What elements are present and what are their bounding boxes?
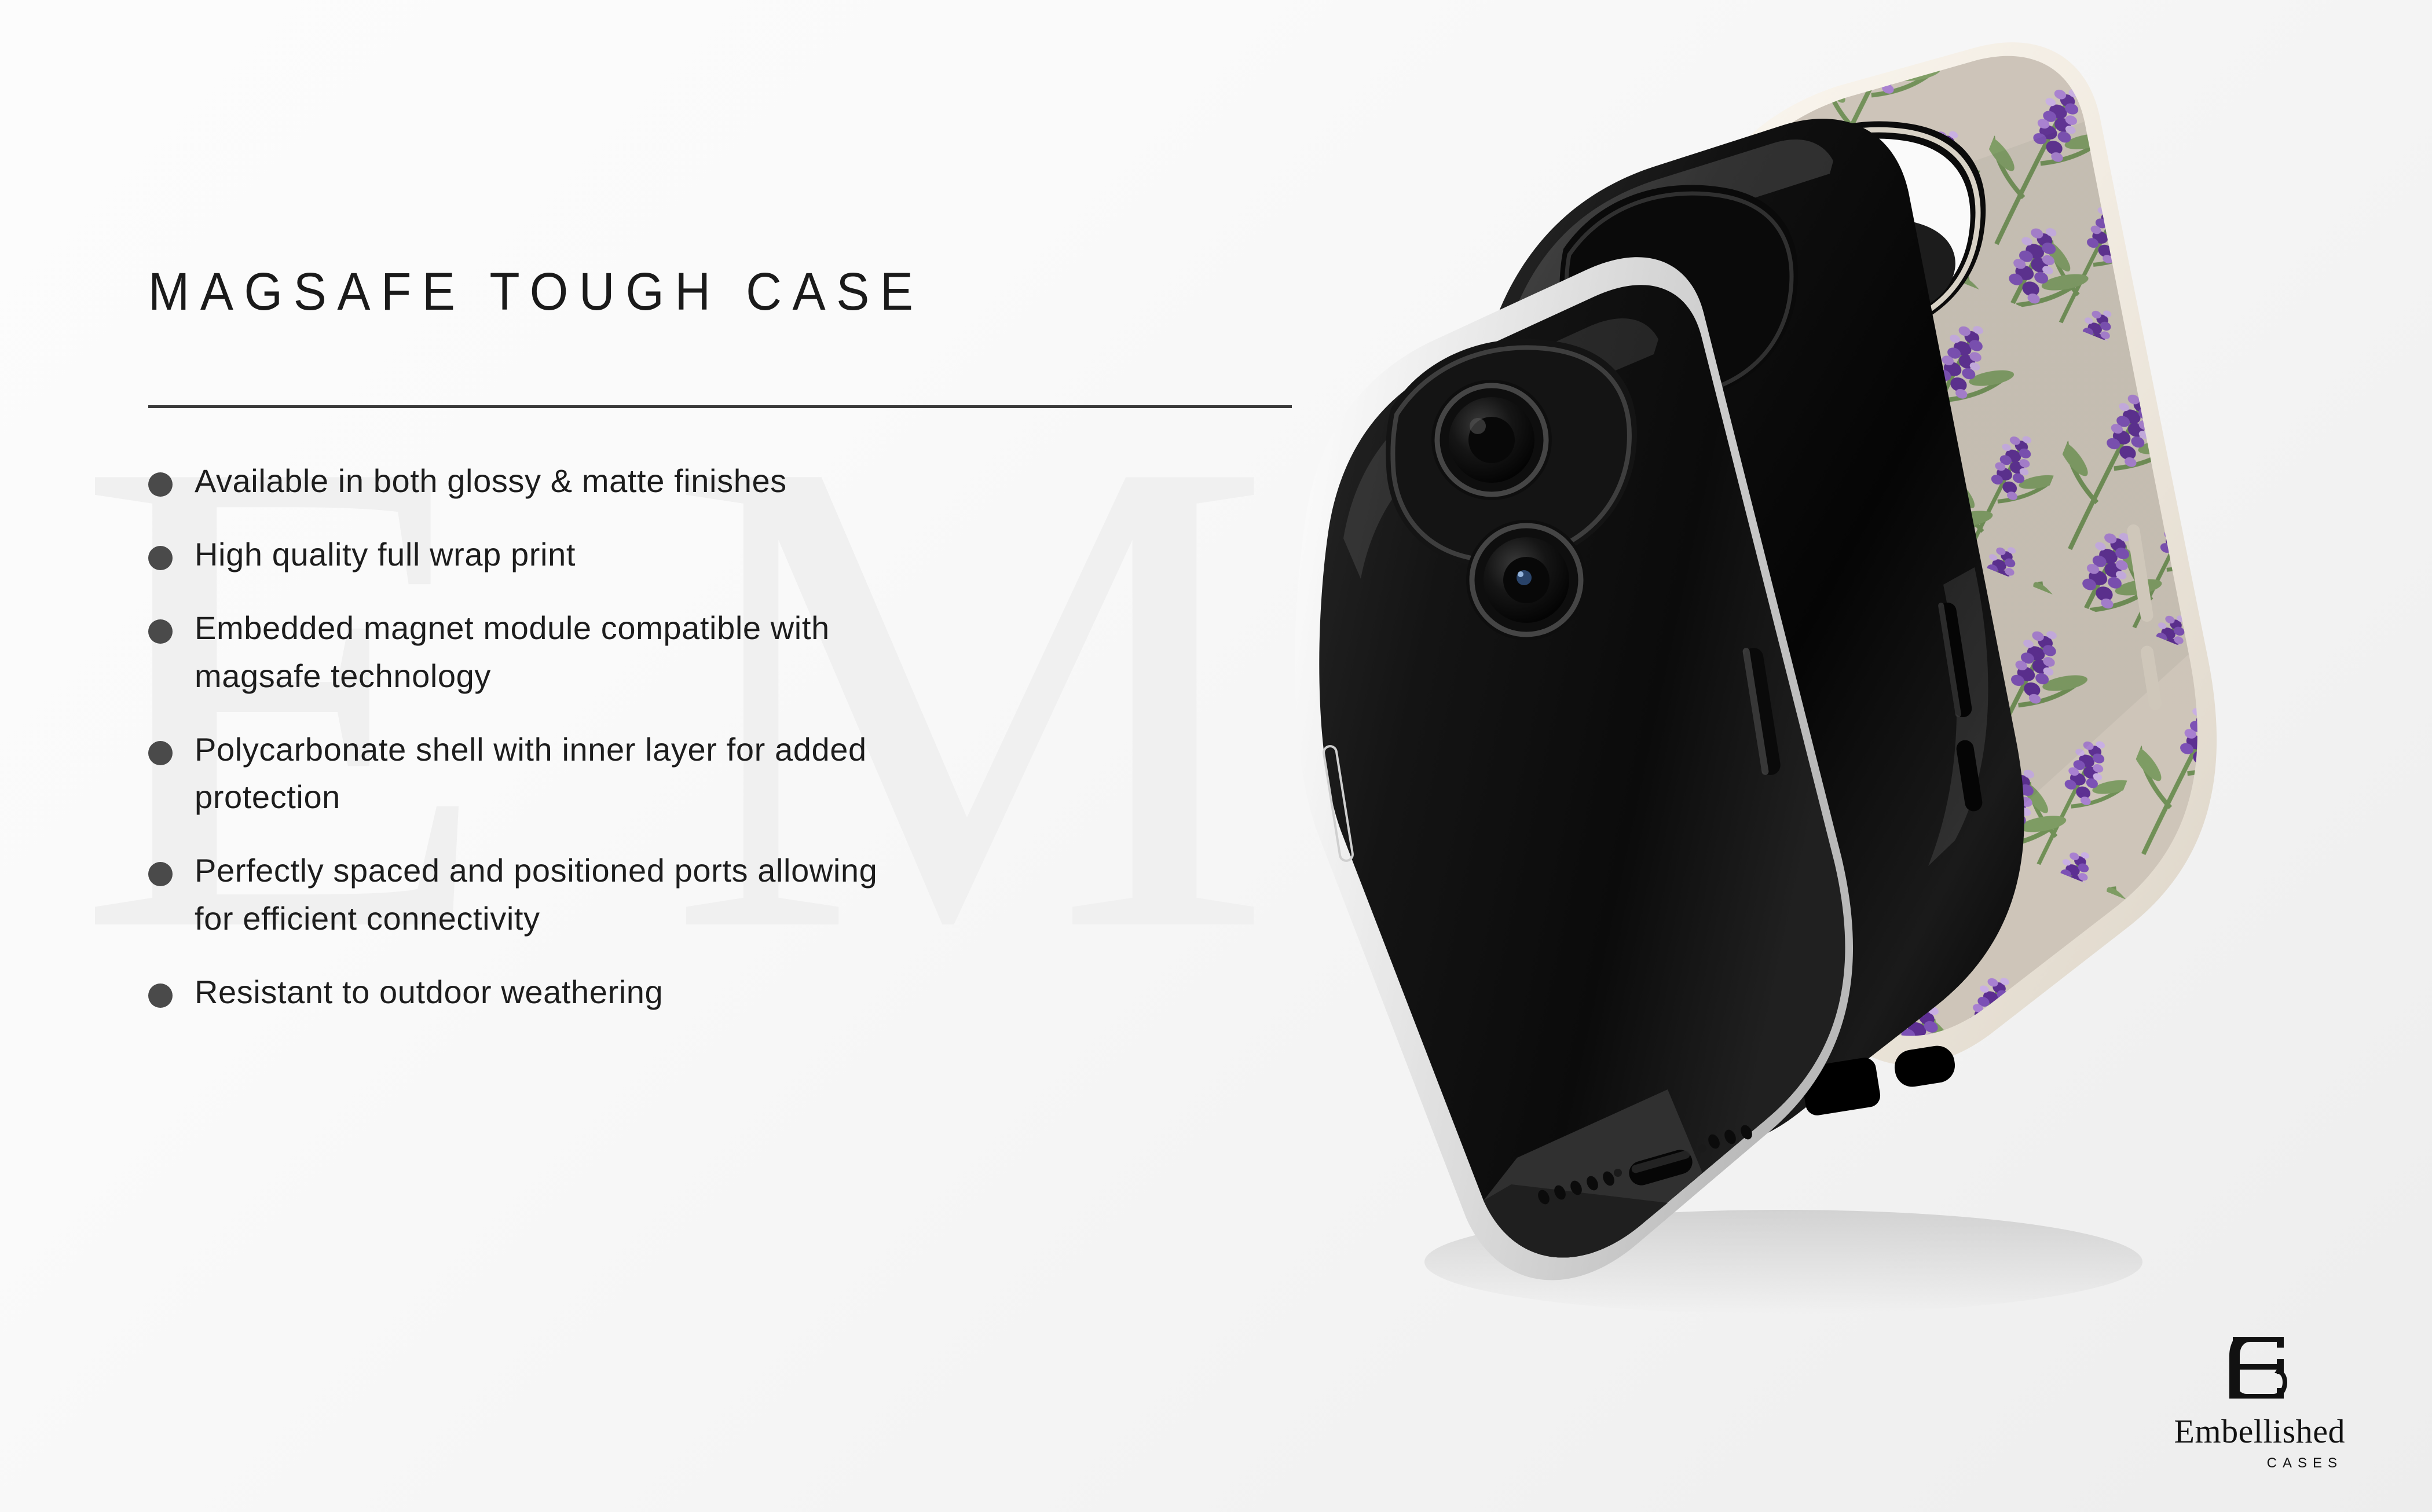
title-divider [148,405,1292,408]
feature-label: Available in both glossy & matte finishe… [195,457,787,505]
embellished-monogram-icon [2227,1334,2292,1402]
product-image [1262,0,2432,1512]
feature-label: High quality full wrap print [195,531,576,579]
bullet-icon [148,472,173,497]
bullet-icon [148,983,173,1008]
feature-item: Polycarbonate shell with inner layer for… [148,726,1248,822]
camera-lens-bottom [1466,520,1587,640]
brand-logo: Embellished CASES [2174,1334,2345,1471]
camera-lens-top [1431,380,1552,500]
bullet-icon [148,619,173,644]
page-title: MAGSAFE TOUGH CASE [148,262,924,322]
feature-label: Perfectly spaced and positioned ports al… [195,847,878,943]
feature-item: Resistant to outdoor weathering [148,968,1248,1016]
info-panel: MAGSAFE TOUGH CASE Available in both glo… [0,0,1332,1512]
brand-name: Embellished [2174,1415,2345,1448]
feature-item: Available in both glossy & matte finishe… [148,457,1248,505]
bullet-icon [148,741,173,765]
feature-item: Embedded magnet module compatible with m… [148,604,1248,700]
feature-label: Polycarbonate shell with inner layer for… [195,726,878,822]
feature-label: Embedded magnet module compatible with m… [195,604,878,700]
feature-label: Resistant to outdoor weathering [195,968,663,1016]
feature-list: Available in both glossy & matte finishe… [148,457,1248,1016]
feature-item: Perfectly spaced and positioned ports al… [148,847,1248,943]
feature-item: High quality full wrap print [148,531,1248,579]
bullet-icon [148,546,173,570]
brand-subtitle: CASES [2267,1455,2343,1471]
bullet-icon [148,862,173,886]
